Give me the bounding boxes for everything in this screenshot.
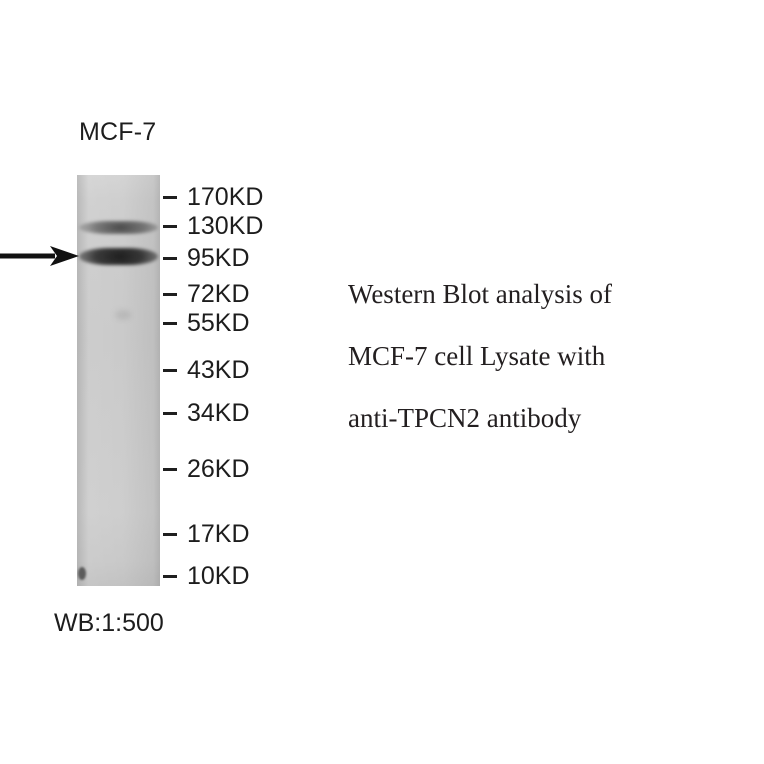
ladder-tick-icon (163, 575, 177, 578)
ladder-tick-icon (163, 322, 177, 325)
ladder-label: 130KD (187, 214, 263, 239)
ladder-label: 72KD (187, 282, 250, 307)
ladder-tick-icon (163, 196, 177, 199)
ladder-marker-170kd: 170KD (163, 182, 263, 212)
caption-line-1: Western Blot analysis of (348, 263, 720, 325)
western-blot-figure: MCF-7 170KD 130KD 95KD 72KD (0, 0, 764, 764)
ladder-label: 170KD (187, 185, 263, 210)
ladder-tick-icon (163, 533, 177, 536)
lane-header-label: MCF-7 (79, 118, 156, 147)
membrane-smudge-artifact (115, 310, 131, 320)
ladder-label: 43KD (187, 358, 250, 383)
band-pointer-arrow (0, 243, 80, 269)
protein-band-130kd (79, 221, 158, 234)
figure-caption: Western Blot analysis of MCF-7 cell Lysa… (348, 263, 720, 449)
ladder-label: 95KD (187, 246, 250, 271)
ladder-label: 34KD (187, 401, 250, 426)
caption-line-3: anti-TPCN2 antibody (348, 387, 720, 449)
ladder-marker-43kd: 43KD (163, 355, 250, 385)
ladder-label: 17KD (187, 522, 250, 547)
ladder-tick-icon (163, 293, 177, 296)
ladder-tick-icon (163, 257, 177, 260)
ladder-label: 55KD (187, 311, 250, 336)
ladder-marker-10kd: 10KD (163, 561, 250, 591)
membrane-speck-artifact (78, 567, 86, 580)
ladder-marker-17kd: 17KD (163, 519, 250, 549)
ladder-tick-icon (163, 468, 177, 471)
ladder-tick-icon (163, 369, 177, 372)
ladder-marker-34kd: 34KD (163, 398, 250, 428)
caption-line-2: MCF-7 cell Lysate with (348, 325, 720, 387)
ladder-marker-55kd: 55KD (163, 308, 250, 338)
protein-band-95kd (79, 248, 158, 265)
ladder-marker-72kd: 72KD (163, 279, 250, 309)
ladder-tick-icon (163, 412, 177, 415)
ladder-marker-26kd: 26KD (163, 454, 250, 484)
blot-lane (77, 175, 160, 586)
ladder-label: 10KD (187, 564, 250, 589)
ladder-marker-95kd: 95KD (163, 243, 250, 273)
ladder-marker-130kd: 130KD (163, 211, 263, 241)
ladder-tick-icon (163, 225, 177, 228)
dilution-label: WB:1:500 (54, 609, 164, 638)
ladder-label: 26KD (187, 457, 250, 482)
